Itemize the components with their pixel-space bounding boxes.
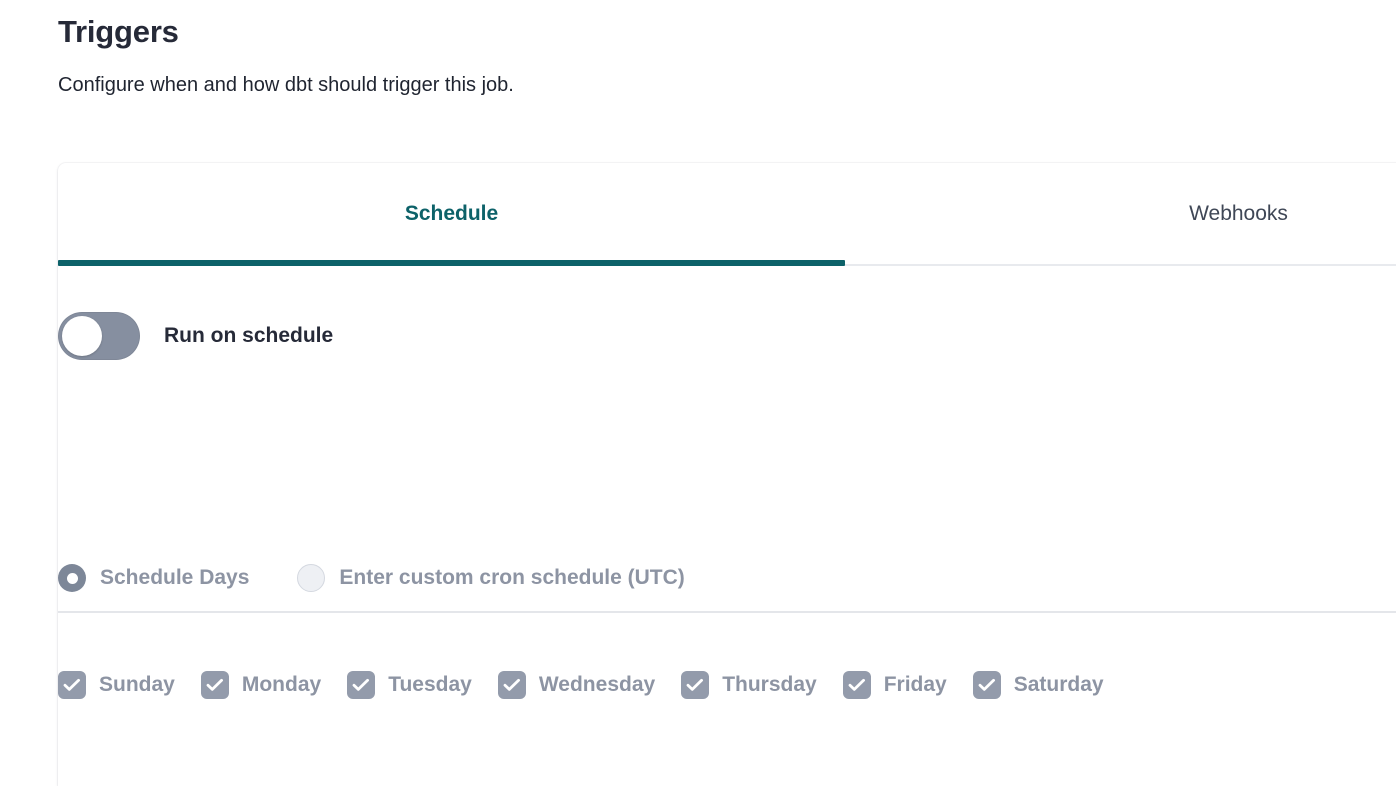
day-label-wednesday: Wednesday bbox=[539, 672, 655, 698]
page-subtitle: Configure when and how dbt should trigge… bbox=[58, 72, 958, 98]
schedule-mode-radio-group: Schedule Days Enter custom cron schedule… bbox=[58, 564, 685, 592]
tab-schedule[interactable]: Schedule bbox=[58, 163, 845, 264]
tab-webhooks-label: Webhooks bbox=[1189, 201, 1288, 227]
run-on-schedule-row: Run on schedule bbox=[58, 312, 333, 360]
radio-selected-icon[interactable] bbox=[58, 564, 86, 592]
radio-option-schedule-days[interactable]: Schedule Days bbox=[58, 564, 249, 592]
day-option-sunday[interactable]: Sunday bbox=[58, 671, 175, 699]
checkbox-checked-icon[interactable] bbox=[681, 671, 709, 699]
run-on-schedule-toggle[interactable] bbox=[58, 312, 140, 360]
day-option-monday[interactable]: Monday bbox=[201, 671, 321, 699]
radio-option-custom-cron[interactable]: Enter custom cron schedule (UTC) bbox=[297, 564, 684, 592]
day-option-thursday[interactable]: Thursday bbox=[681, 671, 817, 699]
checkbox-checked-icon[interactable] bbox=[201, 671, 229, 699]
day-label-saturday: Saturday bbox=[1014, 672, 1104, 698]
checkbox-checked-icon[interactable] bbox=[498, 671, 526, 699]
day-option-saturday[interactable]: Saturday bbox=[973, 671, 1104, 699]
schedule-panel: Run on schedule Schedule Days Enter cust… bbox=[58, 266, 1396, 786]
toggle-knob bbox=[62, 316, 102, 356]
checkbox-checked-icon[interactable] bbox=[347, 671, 375, 699]
triggers-page: Triggers Configure when and how dbt shou… bbox=[0, 0, 1396, 680]
tab-schedule-label: Schedule bbox=[405, 201, 498, 227]
radio-label-schedule-days: Schedule Days bbox=[100, 565, 249, 591]
day-option-wednesday[interactable]: Wednesday bbox=[498, 671, 655, 699]
day-label-thursday: Thursday bbox=[722, 672, 817, 698]
schedule-days-group: Sunday Monday Tu bbox=[58, 671, 1104, 699]
section-divider bbox=[58, 611, 1396, 613]
triggers-card: Schedule Webhooks Run on schedule Schedu… bbox=[58, 163, 1396, 786]
radio-unselected-icon[interactable] bbox=[297, 564, 325, 592]
day-label-friday: Friday bbox=[884, 672, 947, 698]
day-label-tuesday: Tuesday bbox=[388, 672, 472, 698]
run-on-schedule-label: Run on schedule bbox=[164, 323, 333, 349]
day-option-tuesday[interactable]: Tuesday bbox=[347, 671, 472, 699]
page-title: Triggers bbox=[58, 12, 958, 52]
day-label-monday: Monday bbox=[242, 672, 321, 698]
page-header: Triggers Configure when and how dbt shou… bbox=[58, 12, 958, 98]
checkbox-checked-icon[interactable] bbox=[58, 671, 86, 699]
radio-label-custom-cron: Enter custom cron schedule (UTC) bbox=[339, 565, 684, 591]
checkbox-checked-icon[interactable] bbox=[973, 671, 1001, 699]
tab-bar: Schedule Webhooks bbox=[58, 163, 1396, 266]
day-label-sunday: Sunday bbox=[99, 672, 175, 698]
tab-webhooks[interactable]: Webhooks bbox=[845, 163, 1396, 264]
checkbox-checked-icon[interactable] bbox=[843, 671, 871, 699]
day-option-friday[interactable]: Friday bbox=[843, 671, 947, 699]
